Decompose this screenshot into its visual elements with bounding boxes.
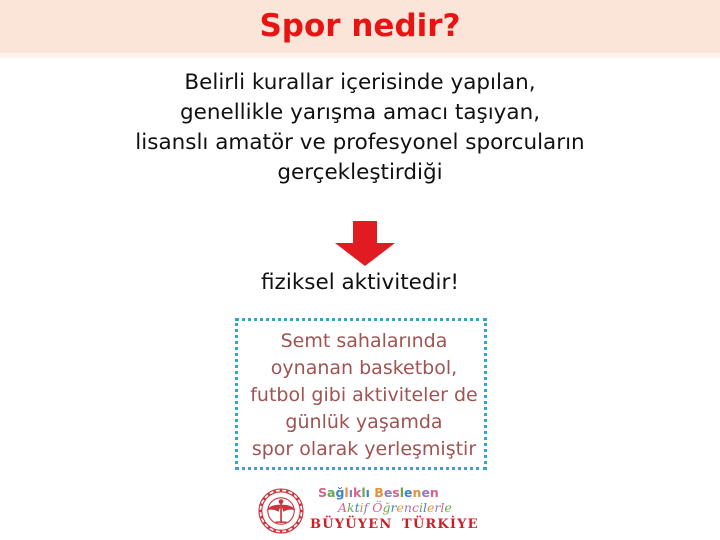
- callout-line-3: futbol gibi aktiviteler de: [238, 382, 490, 409]
- callout-line-2: oynanan basketbol,: [238, 355, 490, 382]
- definition-paragraph: Belirli kurallar içerisinde yapılan, gen…: [60, 68, 660, 188]
- logo-line-3-word-1: BÜYÜYEN: [310, 517, 392, 532]
- definition-line-4: gerçekleştirdiği: [60, 158, 660, 188]
- arrow-down-icon: [334, 221, 396, 267]
- logo-line-3-word-2: TÜRKİYE: [402, 517, 479, 532]
- callout-box: Semt sahalarında oynanan basketbol, futb…: [235, 318, 487, 470]
- logo-line-2: Aktif Öğrencilerle: [338, 500, 452, 515]
- footer-logo: Sağlıklı Beslenen Aktif Öğrencilerle BÜY…: [256, 484, 471, 538]
- page-title: Spor nedir?: [0, 4, 720, 48]
- conclusion-text: fiziksel aktivitedir!: [60, 268, 660, 298]
- logo-line-3-spacer: [392, 517, 402, 532]
- definition-line-2: genellikle yarışma amacı taşıyan,: [60, 98, 660, 128]
- callout-line-5: spor olarak yerleşmiştir: [238, 436, 490, 463]
- turkey-ministry-of-health-emblem-icon: [256, 486, 306, 536]
- callout-text: Semt sahalarında oynanan basketbol, futb…: [238, 328, 490, 463]
- callout-line-4: günlük yaşamda: [238, 409, 490, 436]
- definition-line-1: Belirli kurallar içerisinde yapılan,: [60, 68, 660, 98]
- logo-line-3: BÜYÜYEN TÜRKİYE: [310, 517, 471, 533]
- title-band-underline: [0, 53, 720, 58]
- logo-wordmark: Sağlıklı Beslenen Aktif Öğrencilerle BÜY…: [310, 484, 471, 538]
- logo-line-1: Sağlıklı Beslenen: [318, 485, 439, 500]
- definition-line-3: lisanslı amatör ve profesyonel sporcular…: [60, 128, 660, 158]
- callout-line-1: Semt sahalarında: [238, 328, 490, 355]
